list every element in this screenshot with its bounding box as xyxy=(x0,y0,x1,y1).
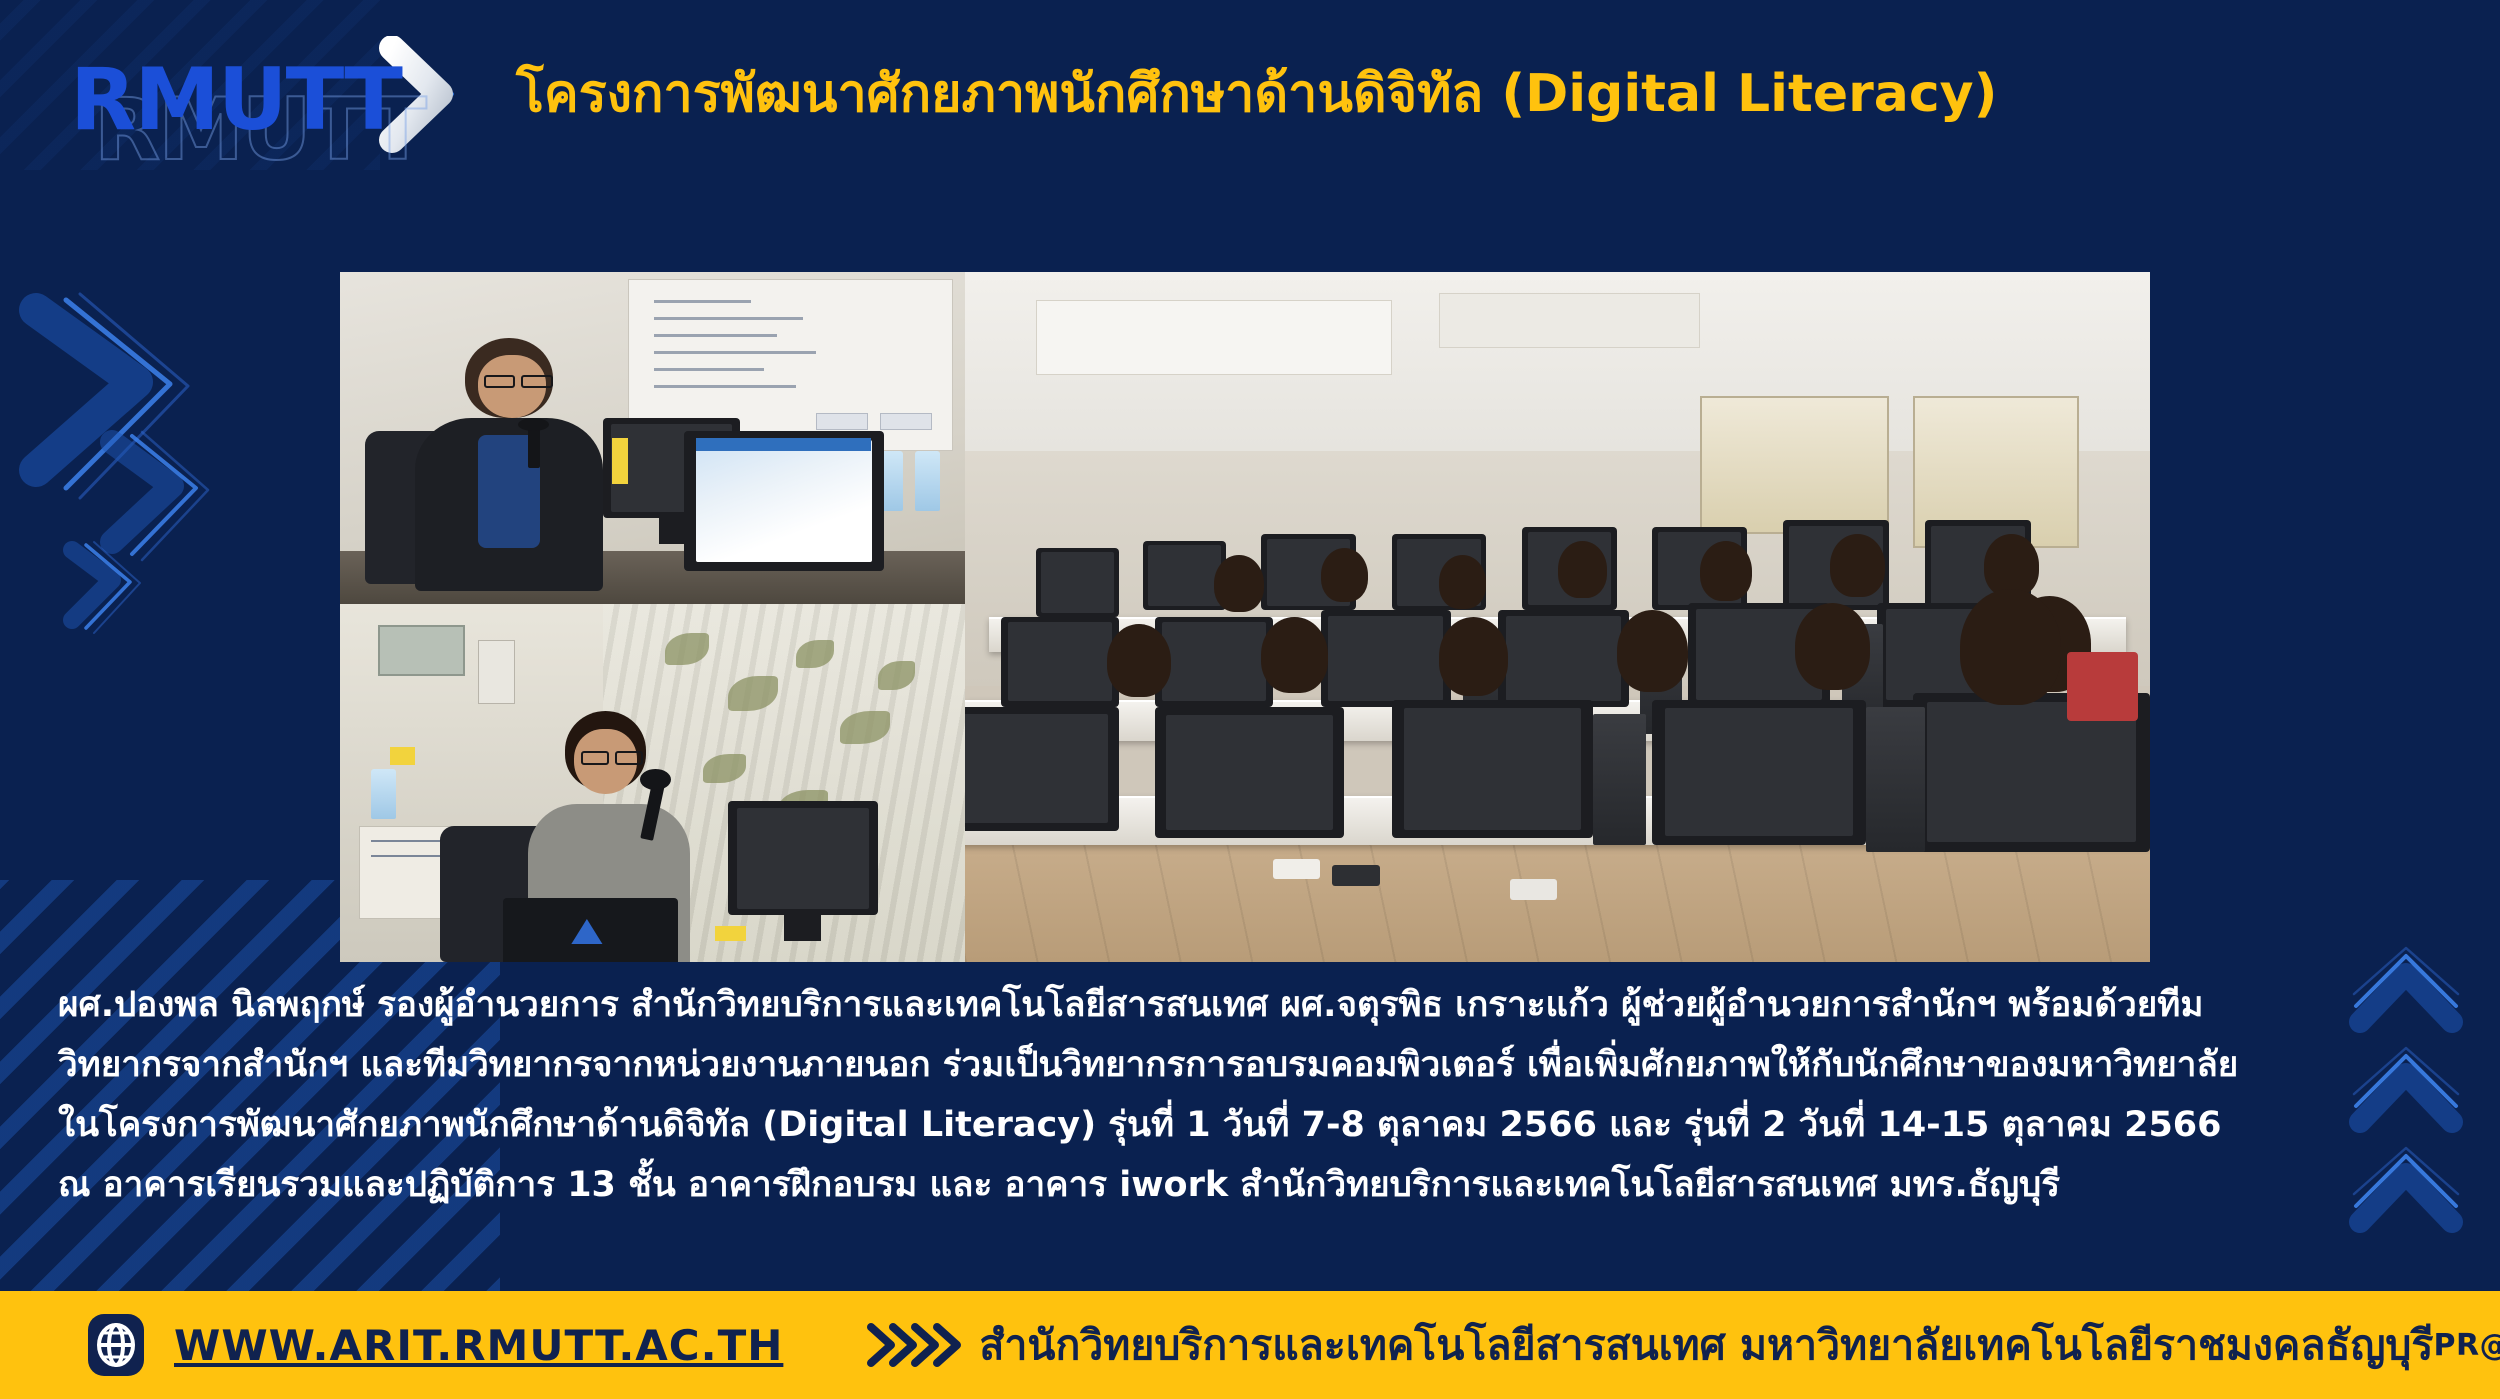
caption-line-3: ในโครงการพัฒนาศักยภาพนักศึกษาด้านดิจิทัล… xyxy=(58,1095,2458,1155)
rmutt-logo-text: RMUTT xyxy=(70,57,401,143)
photo-computer-lab xyxy=(965,272,2150,962)
caption-block: ผศ.ปองพล นิลพฤกษ์ รองผู้อำนวยการ สำนักวิ… xyxy=(58,975,2458,1215)
photo-speaker-laptop xyxy=(340,604,965,962)
collage-right-column xyxy=(965,272,2150,962)
globe-icon xyxy=(88,1314,144,1376)
footer-credit: PR@ARIT xyxy=(2433,1328,2500,1363)
collage-left-column xyxy=(340,272,965,962)
caption-line-4: ณ อาคารเรียนรวมและปฏิบัติการ 13 ชั้น อาค… xyxy=(58,1155,2458,1215)
footer-bar: WWW.ARIT.RMUTT.AC.TH สำนักวิทยบริการและเ… xyxy=(0,1291,2500,1399)
chevron-right-outline-icon xyxy=(100,430,220,565)
footer-organization-name: สำนักวิทยบริการและเทคโนโลยีสารสนเทศ มหาว… xyxy=(979,1313,2433,1378)
triple-chevron-right-icon xyxy=(865,1319,965,1371)
photo-collage xyxy=(340,272,2150,962)
poster-root: RMUTT RMUTT โครงการพัฒนาศักยภาพนักศึกษาด… xyxy=(0,0,2500,1399)
caption-line-2: วิทยากรจากสำนักฯ และทีมวิทยากรจากหน่วยงา… xyxy=(58,1035,2458,1095)
page-title: โครงการพัฒนาศักยภาพนักศึกษาด้านดิจิทัล (… xyxy=(516,66,1997,123)
chevron-right-outline-icon xyxy=(18,292,208,507)
photo-speaker-podium xyxy=(340,272,965,604)
footer-website-link[interactable]: WWW.ARIT.RMUTT.AC.TH xyxy=(174,1321,783,1370)
poster-header: RMUTT RMUTT โครงการพัฒนาศักยภาพนักศึกษาด… xyxy=(0,0,2500,190)
rmutt-logo: RMUTT RMUTT xyxy=(60,35,400,155)
caption-line-1: ผศ.ปองพล นิลพฤกษ์ รองผู้อำนวยการ สำนักวิ… xyxy=(58,975,2458,1035)
chevron-right-outline-icon xyxy=(62,540,148,636)
